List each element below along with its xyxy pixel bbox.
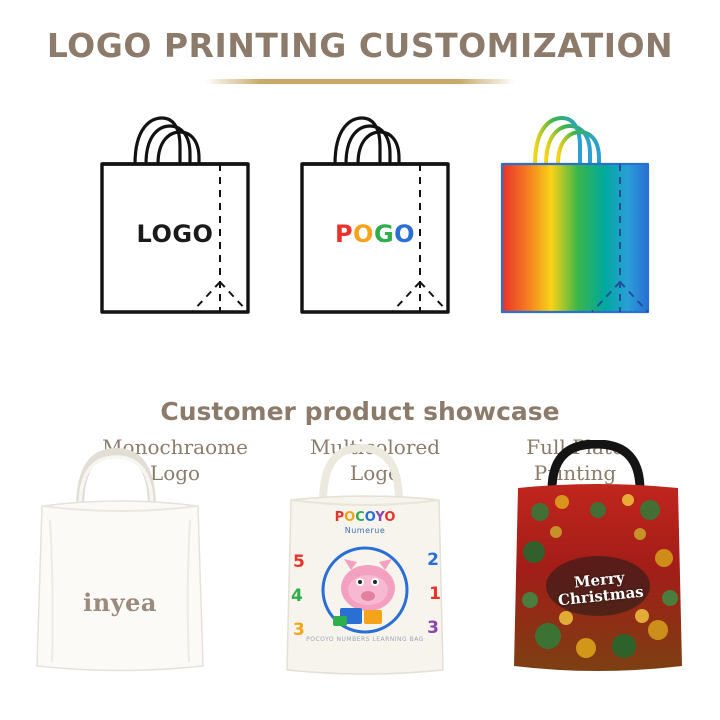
pocoyo-letter-2: O	[344, 510, 355, 525]
showcase-title: Customer product showcase	[0, 397, 720, 426]
pocoyo-letter-6: O	[384, 510, 395, 525]
print-option-full-plate[interactable]: Full Plate Printing	[455, 104, 695, 394]
pocoyo-number-right-3: 3	[427, 618, 439, 638]
logo-letter-3: G	[374, 220, 394, 248]
paper-bag-outline-icon	[280, 104, 470, 324]
header: LOGO PRINTING CUSTOMIZATION	[0, 0, 720, 100]
rainbow-bag-icon	[480, 104, 670, 324]
white-tote-bag-icon	[20, 440, 220, 690]
logo-letter-1: P	[335, 220, 353, 248]
pocoyo-number-right-1: 2	[427, 550, 439, 570]
pocoyo-number-right-2: 1	[429, 584, 441, 604]
pocoyo-letter-3: C	[355, 510, 365, 525]
showcase-item-pocoyo-bag[interactable]: POCOYO Numerue 5 4 3 2 1 3 POCOYO NUMBER…	[245, 440, 485, 720]
pocoyo-footer-text: POCOYO NUMBERS LEARNING BAG	[245, 636, 485, 643]
pocoyo-number-left-1: 5	[293, 552, 305, 572]
pocoyo-letter-4: O	[365, 510, 376, 525]
logo-letter-4: O	[394, 220, 415, 248]
pocoyo-letter-1: P	[335, 510, 345, 525]
print-options-row: LOGO Monochraome Logo POGO Multicolored …	[0, 104, 720, 394]
bag-brand-pocoyo: POCOYO	[245, 510, 485, 525]
logo-letter-2: O	[353, 220, 374, 248]
header-divider	[205, 79, 515, 84]
paper-bag-outline-icon	[80, 104, 270, 324]
pocoyo-letter-5: Y	[375, 510, 384, 525]
pocoyo-subtitle: Numerue	[245, 526, 485, 535]
showcase-item-christmas-bag[interactable]: Merry Christmas	[480, 440, 720, 720]
showcase-row: inyea POCOYO Numerue 5 4 3 2	[0, 440, 720, 720]
bag-brand-inyea: inyea	[0, 588, 240, 617]
pocoyo-number-left-2: 4	[291, 586, 303, 606]
showcase-item-white-bag[interactable]: inyea	[0, 440, 240, 720]
page-title: LOGO PRINTING CUSTOMIZATION	[0, 26, 720, 65]
